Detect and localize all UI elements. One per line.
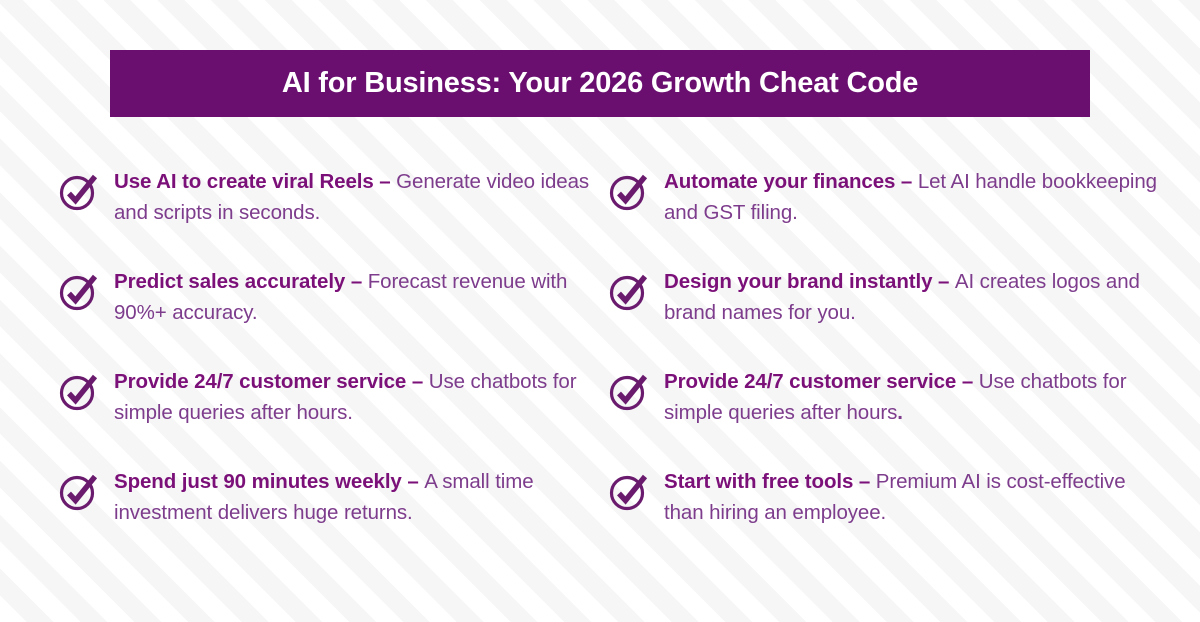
list-item-lead: Predict sales accurately — [114, 270, 345, 293]
list-item-dash: – — [895, 170, 918, 193]
check-circle-icon — [608, 466, 656, 512]
tips-column-right: Automate your finances – Let AI handle b… — [608, 166, 1158, 566]
check-circle-icon — [58, 166, 106, 212]
check-circle-icon — [608, 266, 656, 312]
infographic-canvas: AI for Business: Your 2026 Growth Cheat … — [0, 0, 1200, 622]
tips-grid: Use AI to create viral Reels – Generate … — [0, 166, 1200, 566]
title-banner: AI for Business: Your 2026 Growth Cheat … — [110, 50, 1090, 117]
list-item-dash: – — [374, 170, 397, 193]
list-item-dash: – — [853, 470, 876, 493]
list-item-lead: Provide 24/7 customer service — [114, 370, 406, 393]
list-item: Design your brand instantly – AI creates… — [608, 266, 1158, 366]
list-item-text: Predict sales accurately – Forecast reve… — [106, 266, 608, 328]
list-item-text: Provide 24/7 customer service – Use chat… — [106, 366, 608, 428]
check-circle-icon — [58, 466, 106, 512]
list-item-dash: – — [932, 270, 955, 293]
list-item-text: Automate your finances – Let AI handle b… — [656, 166, 1158, 228]
list-item: Provide 24/7 customer service – Use chat… — [58, 366, 608, 466]
list-item-text: Spend just 90 minutes weekly – A small t… — [106, 466, 608, 528]
list-item: Automate your finances – Let AI handle b… — [608, 166, 1158, 266]
list-item-lead: Spend just 90 minutes weekly — [114, 470, 402, 493]
page-title: AI for Business: Your 2026 Growth Cheat … — [282, 69, 918, 98]
check-circle-icon — [608, 166, 656, 212]
list-item: Provide 24/7 customer service – Use chat… — [608, 366, 1158, 466]
check-circle-icon — [58, 266, 106, 312]
check-circle-icon — [608, 366, 656, 412]
list-item-dash: – — [406, 370, 429, 393]
list-item-lead: Use AI to create viral Reels — [114, 170, 374, 193]
list-item-lead: Design your brand instantly — [664, 270, 932, 293]
check-circle-icon — [58, 366, 106, 412]
list-item-dash: – — [345, 270, 368, 293]
list-item: Spend just 90 minutes weekly – A small t… — [58, 466, 608, 566]
list-item-lead: Automate your finances — [664, 170, 895, 193]
list-item-text: Start with free tools – Premium AI is co… — [656, 466, 1158, 528]
list-item-text: Provide 24/7 customer service – Use chat… — [656, 366, 1158, 428]
list-item-dash: – — [402, 470, 425, 493]
list-item-text: Use AI to create viral Reels – Generate … — [106, 166, 608, 228]
list-item-lead: Provide 24/7 customer service — [664, 370, 956, 393]
list-item-text: Design your brand instantly – AI creates… — [656, 266, 1158, 328]
tips-column-left: Use AI to create viral Reels – Generate … — [58, 166, 608, 566]
list-item-dash: – — [956, 370, 979, 393]
list-item: Start with free tools – Premium AI is co… — [608, 466, 1158, 566]
list-item: Use AI to create viral Reels – Generate … — [58, 166, 608, 266]
list-item: Predict sales accurately – Forecast reve… — [58, 266, 608, 366]
list-item-lead: Start with free tools — [664, 470, 853, 493]
